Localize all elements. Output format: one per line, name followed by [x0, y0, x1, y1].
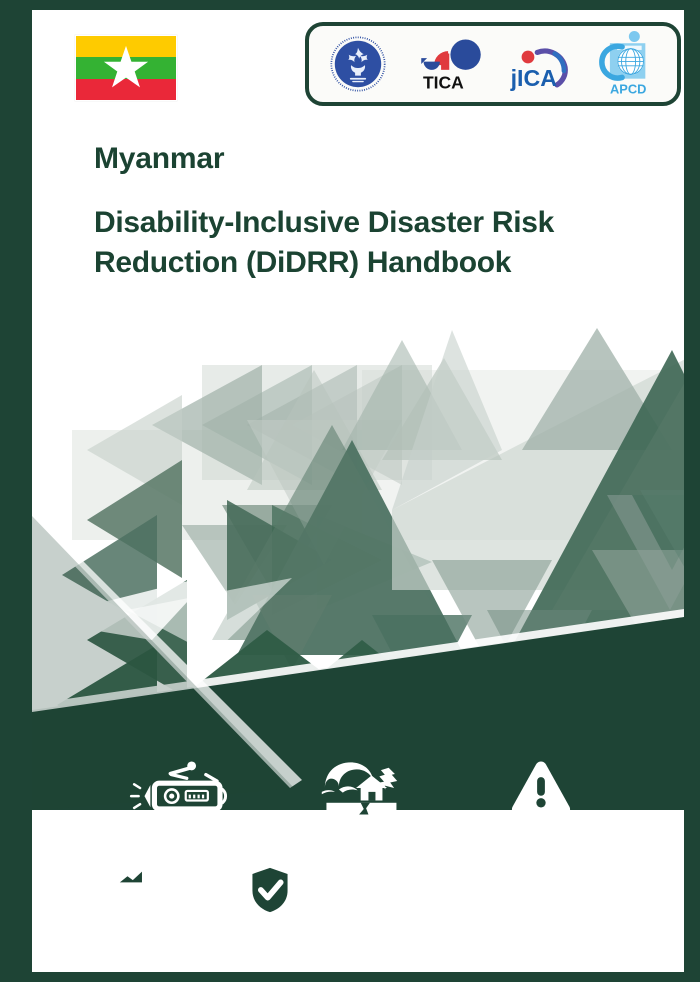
tica-logo: TICA [406, 36, 482, 92]
tica-wordmark: TICA [423, 73, 464, 93]
apcd-wordmark: APCD [610, 81, 646, 96]
wheelchair-training-icon [54, 861, 146, 919]
country-name: Myanmar [94, 142, 654, 175]
title-block: Myanmar Disability-Inclusive Disaster Ri… [94, 142, 654, 282]
warning-triangle-icon [511, 758, 571, 816]
shield-check-icon [244, 861, 296, 919]
icon-caption: Disaster [340, 823, 386, 835]
icon-caption: Risk Reduction [567, 926, 652, 938]
quick-exit-door-icon [411, 861, 469, 919]
icon-cell-safe: Safe [210, 861, 330, 938]
flag-star-icon [103, 45, 149, 91]
jica-icon: jICA [501, 35, 577, 93]
disaster-wave-house-icon [320, 758, 406, 816]
apcd-icon: APCD [596, 31, 658, 97]
icon-caption: Quick Exit [411, 926, 468, 938]
icon-caption: Inclusive Tools Training [119, 823, 252, 835]
page-title: Disability-Inclusive Disaster Risk Reduc… [94, 203, 654, 282]
icon-cell-training: Training [40, 861, 160, 938]
tica-icon: TICA [406, 36, 482, 92]
icon-row-secondary: Training Safe [0, 861, 700, 938]
icon-cell-risk-reduction: Risk Reduction [550, 861, 670, 938]
icon-cell-disaster: Disaster [303, 758, 423, 835]
jica-logo: jICA [501, 35, 577, 93]
radio-icon [129, 758, 241, 816]
risk-reduction-runner-icon [567, 861, 653, 919]
handbook-cover: TICA jICA [0, 0, 700, 982]
icon-cell-quick-exit: Quick Exit [380, 861, 500, 938]
icon-caption: Training [77, 926, 123, 938]
triangle-artwork [32, 310, 684, 810]
icons-area: Inclusive Tools Training [0, 758, 700, 982]
icon-cell-warning-sign: Warning Sign [481, 758, 601, 835]
icon-row-primary: Inclusive Tools Training [0, 758, 700, 835]
thai-seal-icon [329, 35, 387, 93]
thai-mfa-seal-logo [329, 35, 387, 93]
jica-wordmark: jICA [509, 65, 557, 91]
icon-caption: Warning Sign [504, 823, 579, 835]
apcd-logo: APCD [596, 31, 658, 97]
myanmar-flag [75, 35, 177, 101]
icon-cell-inclusive-tools-training: Inclusive Tools Training [125, 758, 245, 835]
partner-logos-box: TICA jICA [305, 22, 681, 106]
icon-caption: Safe [258, 926, 283, 938]
